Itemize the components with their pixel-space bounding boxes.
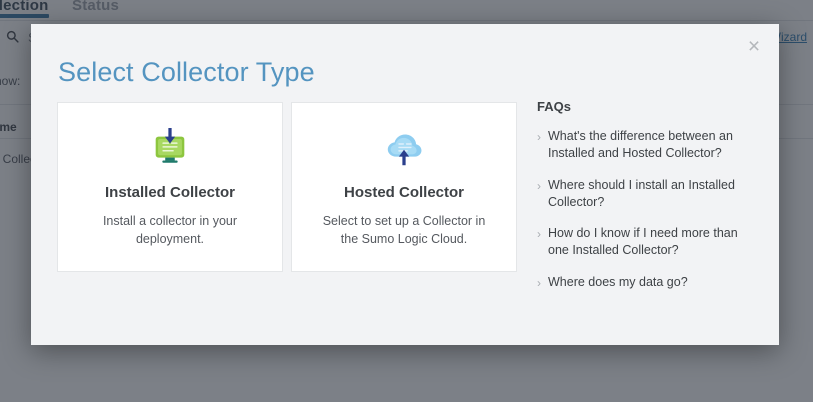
- collector-type-cards: Installed Collector Install a collector …: [57, 102, 517, 272]
- installed-collector-icon: [146, 128, 194, 170]
- chevron-right-icon: ›: [537, 129, 548, 145]
- faq-item[interactable]: › What's the difference between an Insta…: [537, 128, 757, 163]
- hosted-collector-icon: [380, 128, 428, 170]
- faq-heading: FAQs: [537, 99, 757, 114]
- screen: Collection Status Search Wizard Show: Al…: [0, 0, 813, 402]
- chevron-right-icon: ›: [537, 226, 548, 242]
- close-icon[interactable]: ×: [742, 34, 766, 58]
- faq-item-label: What's the difference between an Install…: [548, 128, 757, 163]
- faq-item[interactable]: › How do I know if I need more than one …: [537, 225, 757, 260]
- faq-item[interactable]: › Where does my data go?: [537, 274, 757, 291]
- faq-panel: FAQs › What's the difference between an …: [537, 99, 757, 305]
- chevron-right-icon: ›: [537, 275, 548, 291]
- card-title: Installed Collector: [105, 184, 235, 201]
- card-description: Select to set up a Collector in the Sumo…: [316, 212, 492, 248]
- card-hosted-collector[interactable]: Hosted Collector Select to set up a Coll…: [291, 102, 517, 272]
- faq-item-label: How do I know if I need more than one In…: [548, 225, 757, 260]
- card-title: Hosted Collector: [344, 184, 464, 201]
- faq-item-label: Where should I install an Installed Coll…: [548, 177, 757, 212]
- chevron-right-icon: ›: [537, 178, 548, 194]
- card-installed-collector[interactable]: Installed Collector Install a collector …: [57, 102, 283, 272]
- faq-item[interactable]: › Where should I install an Installed Co…: [537, 177, 757, 212]
- dialog-title: Select Collector Type: [58, 57, 315, 88]
- select-collector-type-dialog: × Select Collector Type: [31, 24, 779, 345]
- faq-item-label: Where does my data go?: [548, 274, 688, 291]
- card-description: Install a collector in your deployment.: [82, 212, 258, 248]
